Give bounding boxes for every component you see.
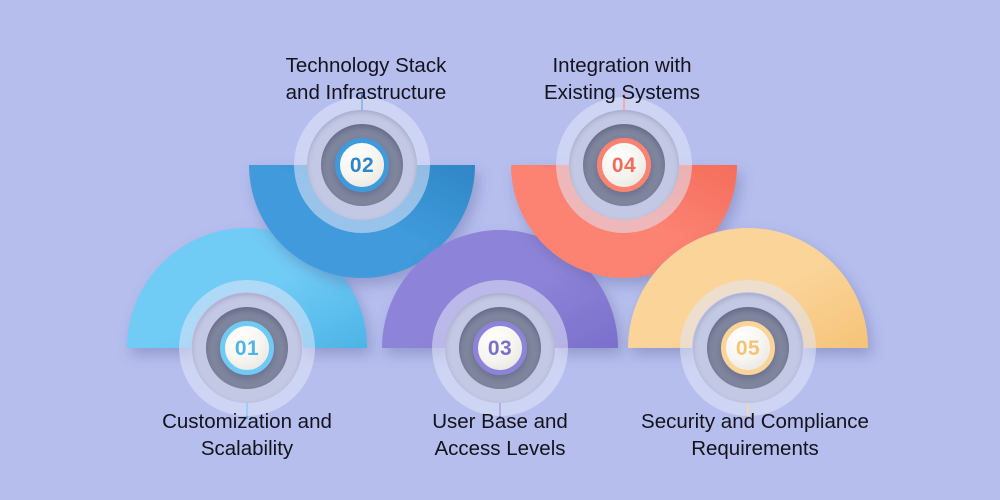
step-number-04: 04 (612, 155, 636, 176)
step-label-02: Technology Stackand Infrastructure (286, 52, 447, 106)
step-label-line-02: Technology Stack (286, 52, 447, 79)
step-number-02: 02 (350, 155, 374, 176)
step-badge-02[interactable]: 02 (335, 138, 389, 192)
step-number-01: 01 (235, 338, 259, 359)
step-label-line-01: Scalability (162, 435, 332, 462)
step-label-03: User Base andAccess Levels (432, 408, 568, 462)
step-label-line-05: Security and Compliance (641, 408, 869, 435)
step-label-line-05: Requirements (641, 435, 869, 462)
step-label-line-04: Existing Systems (544, 79, 700, 106)
step-label-line-01: Customization and (162, 408, 332, 435)
step-label-line-04: Integration with (544, 52, 700, 79)
step-label-line-02: and Infrastructure (286, 79, 447, 106)
infographic-canvas: 01Customization andScalability02Technolo… (0, 0, 1000, 500)
step-badge-04[interactable]: 04 (597, 138, 651, 192)
step-number-03: 03 (488, 338, 512, 359)
step-label-04: Integration withExisting Systems (544, 52, 700, 106)
step-label-01: Customization andScalability (162, 408, 332, 462)
step-badge-01[interactable]: 01 (220, 321, 274, 375)
step-number-05: 05 (736, 338, 760, 359)
step-label-line-03: User Base and (432, 408, 568, 435)
step-badge-05[interactable]: 05 (721, 321, 775, 375)
step-label-05: Security and ComplianceRequirements (641, 408, 869, 462)
step-label-line-03: Access Levels (432, 435, 568, 462)
step-badge-03[interactable]: 03 (473, 321, 527, 375)
